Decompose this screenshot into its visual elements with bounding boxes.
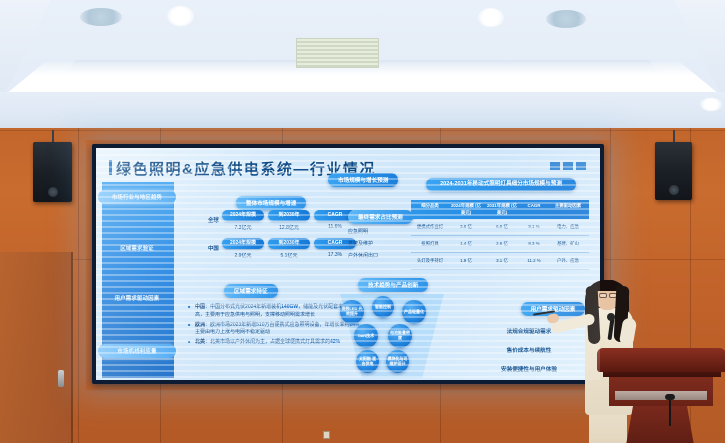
cell: 1.9 亿 — [449, 258, 483, 264]
cell: 头灯及手持灯 — [413, 258, 447, 264]
growth-value-2024: 7.3亿元 — [222, 224, 264, 231]
presenter-and-podium — [545, 272, 725, 443]
podium-top — [597, 348, 725, 372]
cell: 3.1 亿 — [485, 258, 519, 264]
table-col-drivers: 主要驱动因素 — [547, 202, 589, 209]
ceiling-speaker-grille — [546, 10, 586, 28]
cell: 1.4 亿 — [449, 241, 483, 247]
driver-item: 应急照明 — [348, 228, 418, 235]
bullet-region-label: 欧洲 — [195, 322, 205, 328]
door-handle[interactable] — [58, 370, 64, 387]
tech-bubble-gan[interactable]: GaN技术 — [354, 324, 378, 348]
growth-value-2030: 12.8亿元 — [268, 224, 310, 231]
bullet-text: 中国分布式光伏2024年新增装机 — [210, 304, 281, 310]
bullet-highlight: 42% — [330, 339, 340, 345]
tech-bubble-lightweight[interactable]: 产品轻量化 — [402, 300, 426, 324]
eyeglasses-icon — [599, 293, 607, 298]
tech-bubble-led[interactable]: 高效LED 光效提升 — [340, 300, 364, 324]
section-header-regional: 区域需求特征 — [224, 284, 278, 298]
section-header-drivers: 最终需求占比预测 — [348, 210, 413, 224]
table-col-cagr: CAGR — [521, 202, 547, 209]
bullet-text: 北美市场以户外休闲为主，占据全球便携式灯具需求的 — [210, 339, 330, 345]
podium-mic-head-icon — [665, 394, 675, 400]
bullet-europe: 欧洲：欧洲市场2023年新增510万台便携式应急照明设备，年增长率约24%，主要… — [188, 322, 368, 337]
section-header-forecast-table: 2024-2031年移动式照明灯具细分市场规模与预测 — [426, 178, 576, 191]
tech-bubble-solar[interactable]: 太阳能 混合供电 — [356, 350, 379, 373]
cell: 8.3 % — [521, 241, 547, 246]
growth-value-2030: 5.1亿元 — [268, 252, 310, 259]
cell: 3.8 亿 — [449, 224, 483, 230]
bullet-highlight: 140GW — [281, 304, 298, 310]
growth-header-2030: 到2030年 — [268, 238, 310, 249]
table-col-2024: 2024年规模 (亿美元) — [449, 202, 483, 216]
title-accent-bar — [109, 160, 112, 175]
ceiling-speaker-grille — [80, 8, 122, 26]
sidebar-item-user-needs[interactable]: 用户需求驱动因素 — [98, 294, 176, 302]
display-surface: 绿色照明&应急供电系统—行业情况 市场行业与地区趋势 区域需求验证 用户需求驱动… — [96, 148, 600, 380]
presentation-slide: 绿色照明&应急供电系统—行业情况 市场行业与地区趋势 区域需求验证 用户需求驱动… — [96, 148, 600, 380]
bullet-text: 欧洲市场2023年新增510万台便携式应急照明设备，年增长率约 — [210, 322, 349, 328]
growth-header-2030: 到2030年 — [268, 210, 310, 221]
cell: 11.2 % — [521, 258, 547, 263]
podium-mic-stand — [669, 400, 671, 426]
cell: 投照灯具 — [413, 241, 447, 247]
cell: 户外、应急 — [547, 258, 589, 264]
door[interactable] — [0, 252, 73, 443]
sidebar-item-market-opportunity[interactable]: 市场机线利应量 — [98, 344, 176, 358]
driver-item: 户外休闲出口 — [348, 252, 418, 259]
cell: 9.1 % — [521, 224, 547, 229]
section-header-tech: 技术趋势与产品创新 — [358, 278, 428, 292]
driver-item: 基建及维护 — [348, 240, 418, 247]
sidebar-item-market-trend[interactable]: 市场行业与地区趋势 — [98, 190, 176, 204]
cell: 电力、应急 — [547, 224, 589, 230]
speaker-bracket — [52, 130, 54, 142]
growth-row-label-global: 全球 — [208, 216, 219, 224]
wall-speaker — [655, 142, 692, 200]
podium — [597, 348, 725, 443]
microphone-head-icon — [607, 313, 615, 321]
tech-bubble-battery[interactable]: 电池能量密度 — [388, 324, 412, 348]
cell: 2.6 亿 — [485, 241, 519, 247]
cell: 6.9 亿 — [485, 224, 519, 230]
tech-bubble-smart[interactable]: 智能控制 — [372, 296, 394, 318]
tech-bubble-modular[interactable]: 模块化与可维护设计 — [386, 350, 409, 373]
podium-nameplate — [615, 391, 707, 400]
wall-speaker — [33, 142, 72, 202]
podium-base — [623, 404, 697, 443]
growth-value-2024: 2.9亿元 — [222, 252, 264, 259]
bullet-northamerica: 北美：北美市场以户外休闲为主，占据全球便携式灯具需求的42% — [188, 339, 368, 347]
wall-seam — [0, 130, 725, 131]
growth-header-2024: 2024年规模 — [222, 210, 264, 221]
downlight — [478, 8, 504, 27]
conference-room-photo: 绿色照明&应急供电系统—行业情况 市场行业与地区趋势 区域需求验证 用户需求驱动… — [0, 0, 725, 443]
wall-socket — [323, 431, 330, 439]
bullet-region-label: 北美 — [195, 339, 205, 345]
table-col-category: 细分品类 — [413, 202, 447, 209]
downlight — [700, 98, 722, 111]
air-vent — [296, 38, 379, 68]
table-col-2031: 2031年规模 (亿美元) — [485, 202, 519, 216]
sidebar-item-regional[interactable]: 区域需求验证 — [98, 244, 176, 252]
led-wall-display[interactable]: 绿色照明&应急供电系统—行业情况 市场行业与地区趋势 区域需求验证 用户需求驱动… — [92, 144, 604, 384]
cell: 便携式作业灯 — [413, 224, 447, 230]
speaker-bracket — [673, 130, 675, 142]
downlight — [167, 6, 194, 26]
bullet-region-label: 中国 — [195, 304, 205, 310]
growth-row-label-china: 中国 — [208, 244, 219, 252]
growth-header-2024: 2024年规模 — [222, 238, 264, 249]
section-header-global-market: 整体市场规模与增速 — [236, 196, 306, 210]
decor-squares-icon — [550, 162, 586, 170]
section-header-market-scale: 市场规模与增长预测 — [328, 173, 398, 187]
cell: 基建、矿山 — [547, 241, 589, 247]
